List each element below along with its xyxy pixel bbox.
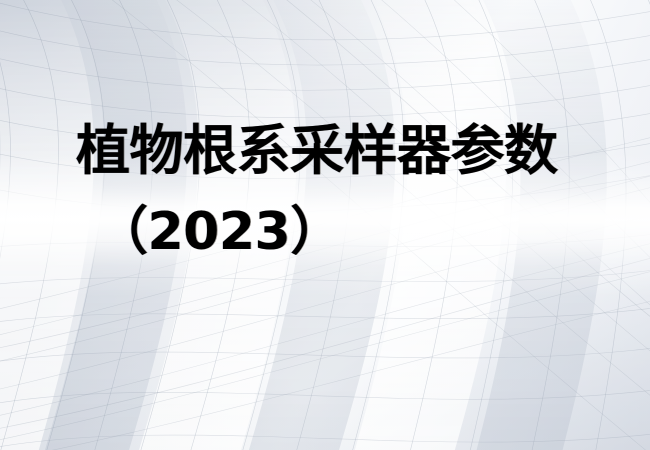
slide-title-line-1: 植物根系采样器参数 — [76, 124, 558, 178]
slide-title-line-2: （2023） — [96, 206, 342, 258]
title-text-block: 植物根系采样器参数 （2023） — [0, 0, 650, 450]
title-slide: 植物根系采样器参数 （2023） — [0, 0, 650, 450]
